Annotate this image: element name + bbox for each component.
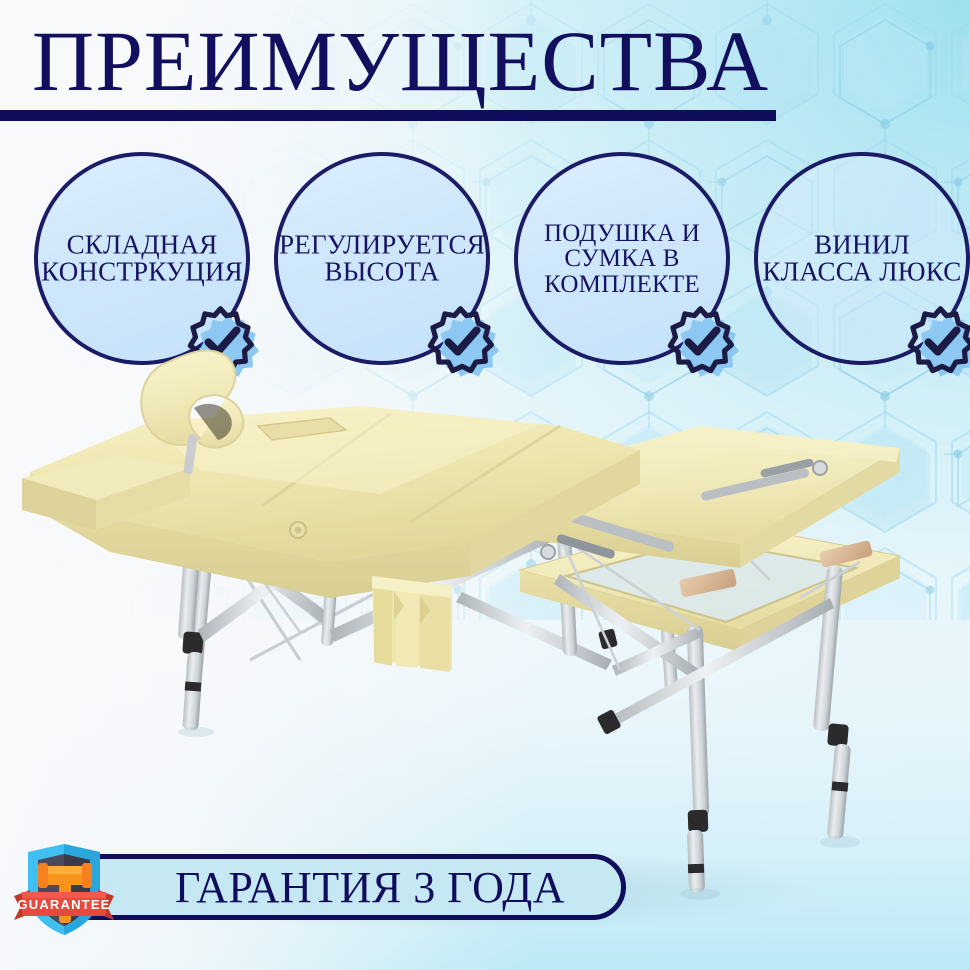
feature-label: ВИНИЛ КЛАССА ЛЮКС: [740, 231, 970, 286]
guarantee-shield-icon: GUARANTEE: [10, 838, 118, 938]
guarantee-bar[interactable]: ГАРАНТИЯ 3 ГОДА GU: [0, 838, 640, 934]
guarantee-ribbon-text: GUARANTEE: [17, 897, 110, 912]
infographic-canvas: ПРЕИМУЩЕСТВА СКЛАДНАЯ КОНСТРКУЦИЯ РЕГУЛИ…: [0, 0, 970, 970]
title-underline-rule: [0, 110, 776, 121]
feature-label: РЕГУЛИРУЕТСЯ ВЫСОТА: [260, 231, 504, 286]
table-side-pocket-bag: [372, 576, 452, 672]
feature-label: ПОДУШКА И СУМКА В КОМПЛЕКТЕ: [500, 220, 744, 297]
page-title: ПРЕИМУЩЕСТВА: [32, 18, 769, 104]
guarantee-label: ГАРАНТИЯ 3 ГОДА: [110, 854, 630, 920]
feature-label: СКЛАДНАЯ КОНСТРКУЦИЯ: [20, 231, 264, 286]
